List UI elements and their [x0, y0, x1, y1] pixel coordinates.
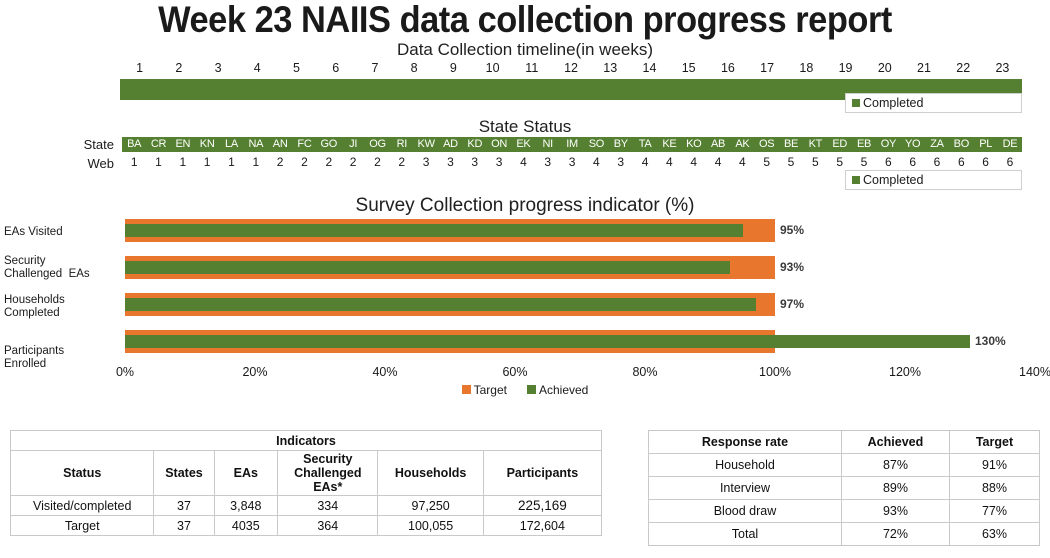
table-row: Interview 89% 88%	[649, 477, 1040, 500]
survey-bar-group: 130%	[125, 326, 1035, 363]
state-web-BA: 1	[122, 154, 146, 171]
state-web-EK: 4	[511, 154, 535, 171]
header-eas: EAs	[214, 451, 278, 496]
state-code-KD: KD	[463, 137, 487, 152]
state-code-BY: BY	[609, 137, 633, 152]
state-code-IM: IM	[560, 137, 584, 152]
state-web-SO: 4	[584, 154, 608, 171]
bar-achieved-2	[125, 298, 756, 311]
timeline-week-17: 17	[748, 60, 787, 76]
state-code-AB: AB	[706, 137, 730, 152]
state-code-OS: OS	[755, 137, 779, 152]
state-web-ON: 3	[487, 154, 511, 171]
report-page: Week 23 NAIIS data collection progress r…	[0, 0, 1050, 558]
bar-value-label-1: 93%	[780, 262, 804, 273]
cell-status: Target	[11, 516, 154, 536]
state-code-EN: EN	[171, 137, 195, 152]
header-security-line1: Security	[303, 452, 352, 466]
cell-target: 88%	[949, 477, 1039, 500]
state-code-RI: RI	[390, 137, 414, 152]
cell-achieved: 93%	[841, 500, 949, 523]
timeline-week-20: 20	[865, 60, 904, 76]
bar-achieved-3	[125, 335, 970, 348]
survey-xtick-0: 0%	[116, 365, 134, 379]
state-web-IM: 3	[560, 154, 584, 171]
timeline-week-7: 7	[355, 60, 394, 76]
state-web-YO: 6	[901, 154, 925, 171]
state-code-ON: ON	[487, 137, 511, 152]
survey-legend-label: Achieved	[539, 383, 588, 397]
state-status-chart: BACRENKNLANAANFCGOJIOGRIKWADKDONEKNIIMSO…	[122, 137, 1022, 171]
cell-status: Visited/completed	[11, 496, 154, 516]
timeline-week-8: 8	[395, 60, 434, 76]
cell-target: 91%	[949, 454, 1039, 477]
state-code-AN: AN	[268, 137, 292, 152]
state-code-EK: EK	[511, 137, 535, 152]
state-web-KO: 4	[682, 154, 706, 171]
header-security-line2: Challenged	[294, 466, 361, 480]
cell-eas: 4035	[214, 516, 278, 536]
table-row: Status States EAs Security Challenged EA…	[11, 451, 602, 496]
survey-xtick-60: 60%	[502, 365, 527, 379]
state-status-title: State Status	[0, 117, 1050, 137]
indicators-table: Indicators Status States EAs Security Ch…	[10, 430, 602, 536]
cell-households: 100,055	[378, 516, 483, 536]
header-target: Target	[949, 431, 1039, 454]
state-web-AD: 3	[438, 154, 462, 171]
state-code-GO: GO	[317, 137, 341, 152]
cell-eas: 3,848	[214, 496, 278, 516]
survey-bar-group: 93%	[125, 252, 1035, 289]
state-web-KD: 3	[463, 154, 487, 171]
timeline-legend[interactable]: Completed	[845, 93, 1022, 113]
timeline-week-14: 14	[630, 60, 669, 76]
timeline-week-19: 19	[826, 60, 865, 76]
state-code-PL: PL	[973, 137, 997, 152]
state-web-LA: 1	[219, 154, 243, 171]
timeline-week-ticks: 1234567891011121314151617181920212223	[120, 60, 1022, 76]
header-achieved: Achieved	[841, 431, 949, 454]
table-row: Household 87% 91%	[649, 454, 1040, 477]
state-code-KE: KE	[657, 137, 681, 152]
survey-xtick-20: 20%	[242, 365, 267, 379]
cell-security-eas: 334	[278, 496, 378, 516]
bar-value-label-2: 97%	[780, 299, 804, 310]
cell-response-label: Total	[649, 523, 842, 546]
cell-achieved: 72%	[841, 523, 949, 546]
survey-category-label-1: SecurityChallenged EAs	[4, 255, 114, 281]
timeline-week-5: 5	[277, 60, 316, 76]
state-code-LA: LA	[219, 137, 243, 152]
cell-security-eas: 364	[278, 516, 378, 536]
table-row: Response rate Achieved Target	[649, 431, 1040, 454]
survey-category-label-0: EAs Visited	[4, 226, 114, 239]
cell-households: 97,250	[378, 496, 483, 516]
state-web-JI: 2	[341, 154, 365, 171]
timeline-legend-label: Completed	[863, 96, 923, 110]
survey-xtick-120: 120%	[889, 365, 921, 379]
timeline-week-4: 4	[238, 60, 277, 76]
state-code-CR: CR	[146, 137, 170, 152]
state-code-KT: KT	[803, 137, 827, 152]
state-code-SO: SO	[584, 137, 608, 152]
state-web-PL: 6	[973, 154, 997, 171]
cell-states: 37	[154, 516, 214, 536]
state-code-FC: FC	[292, 137, 316, 152]
state-code-KO: KO	[682, 137, 706, 152]
survey-legend-item-achieved: Achieved	[527, 383, 588, 397]
state-code-ZA: ZA	[925, 137, 949, 152]
bar-value-label-3: 130%	[975, 336, 1006, 347]
state-web-AN: 2	[268, 154, 292, 171]
legend-swatch-target-icon	[462, 385, 471, 394]
header-participants: Participants	[483, 451, 601, 496]
timeline-week-16: 16	[708, 60, 747, 76]
cell-target: 63%	[949, 523, 1039, 546]
cell-achieved: 89%	[841, 477, 949, 500]
state-code-JI: JI	[341, 137, 365, 152]
state-web-NI: 3	[536, 154, 560, 171]
timeline-week-9: 9	[434, 60, 473, 76]
state-code-OY: OY	[876, 137, 900, 152]
state-web-AB: 4	[706, 154, 730, 171]
table-row: Total 72% 63%	[649, 523, 1040, 546]
state-web-BO: 6	[949, 154, 973, 171]
cell-states: 37	[154, 496, 214, 516]
survey-legend: TargetAchieved	[0, 383, 1050, 397]
legend-swatch-completed-icon	[852, 176, 860, 184]
web-row-label: Web	[0, 155, 114, 172]
header-status: Status	[11, 451, 154, 496]
state-web-AK: 4	[730, 154, 754, 171]
bar-achieved-1	[125, 261, 730, 274]
timeline-week-2: 2	[159, 60, 198, 76]
table-row: Blood draw 93% 77%	[649, 500, 1040, 523]
header-response-rate: Response rate	[649, 431, 842, 454]
survey-legend-label: Target	[474, 383, 507, 397]
timeline-week-23: 23	[983, 60, 1022, 76]
timeline-week-22: 22	[944, 60, 983, 76]
state-code-EB: EB	[852, 137, 876, 152]
state-web-FC: 2	[292, 154, 316, 171]
cell-achieved: 87%	[841, 454, 949, 477]
timeline-week-18: 18	[787, 60, 826, 76]
state-code-NA: NA	[244, 137, 268, 152]
cell-response-label: Blood draw	[649, 500, 842, 523]
state-code-BA: BA	[122, 137, 146, 152]
indicators-caption: Indicators	[11, 431, 602, 451]
timeline-week-21: 21	[904, 60, 943, 76]
timeline-chart-title: Data Collection timeline(in weeks)	[0, 40, 1050, 60]
survey-bar-group: 95%	[125, 215, 1035, 252]
survey-plot-area: 95%93%97%130%	[125, 215, 1035, 363]
state-web-KN: 1	[195, 154, 219, 171]
cell-target: 77%	[949, 500, 1039, 523]
state-web-EN: 1	[171, 154, 195, 171]
state-code-BE: BE	[779, 137, 803, 152]
table-row: Target 37 4035 364 100,055 172,604	[11, 516, 602, 536]
bar-achieved-0	[125, 224, 743, 237]
response-rate-table: Response rate Achieved Target Household …	[648, 430, 1040, 546]
state-code-TA: TA	[633, 137, 657, 152]
survey-category-label-2: HouseholdsCompleted	[4, 294, 114, 320]
survey-xtick-40: 40%	[372, 365, 397, 379]
state-code-DE: DE	[998, 137, 1022, 152]
header-security-line3: EAs*	[313, 480, 342, 494]
cell-response-label: Household	[649, 454, 842, 477]
header-households: Households	[378, 451, 483, 496]
survey-xtick-140: 140%	[1019, 365, 1050, 379]
state-web-OG: 2	[365, 154, 389, 171]
state-code-BO: BO	[949, 137, 973, 152]
state-web-ED: 5	[828, 154, 852, 171]
header-states: States	[154, 451, 214, 496]
state-web-row: 1111112222223333433434444455555666666	[122, 154, 1022, 171]
state-web-ZA: 6	[925, 154, 949, 171]
state-web-KW: 3	[414, 154, 438, 171]
state-code-AK: AK	[730, 137, 754, 152]
survey-chart-title: Survey Collection progress indicator (%)	[0, 195, 1050, 217]
survey-x-axis: 0%20%40%60%80%100%120%140%	[125, 365, 1035, 383]
state-web-BE: 5	[779, 154, 803, 171]
state-web-NA: 1	[244, 154, 268, 171]
state-web-GO: 2	[317, 154, 341, 171]
state-code-YO: YO	[901, 137, 925, 152]
state-web-CR: 1	[146, 154, 170, 171]
state-web-TA: 4	[633, 154, 657, 171]
table-row: Indicators	[11, 431, 602, 451]
page-title: Week 23 NAIIS data collection progress r…	[37, 0, 1014, 42]
timeline-week-11: 11	[512, 60, 551, 76]
survey-progress-chart: EAs VisitedSecurityChallenged EAsHouseho…	[0, 215, 1050, 395]
state-web-BY: 3	[609, 154, 633, 171]
timeline-week-12: 12	[551, 60, 590, 76]
state-code-AD: AD	[438, 137, 462, 152]
state-web-EB: 5	[852, 154, 876, 171]
survey-legend-item-target: Target	[462, 383, 507, 397]
state-code-NI: NI	[536, 137, 560, 152]
survey-xtick-80: 80%	[632, 365, 657, 379]
state-web-KE: 4	[657, 154, 681, 171]
legend-swatch-completed-icon	[852, 99, 860, 107]
state-row-label: State	[0, 137, 114, 152]
bar-value-label-0: 95%	[780, 225, 804, 236]
timeline-week-10: 10	[473, 60, 512, 76]
cell-response-label: Interview	[649, 477, 842, 500]
state-status-legend[interactable]: Completed	[845, 170, 1022, 190]
timeline-week-13: 13	[591, 60, 630, 76]
survey-bar-group: 97%	[125, 289, 1035, 326]
state-code-KN: KN	[195, 137, 219, 152]
state-code-ED: ED	[828, 137, 852, 152]
state-code-row: BACRENKNLANAANFCGOJIOGRIKWADKDONEKNIIMSO…	[122, 137, 1022, 152]
state-web-RI: 2	[390, 154, 414, 171]
state-web-OS: 5	[755, 154, 779, 171]
cell-participants: 225,169	[483, 496, 601, 516]
timeline-week-6: 6	[316, 60, 355, 76]
survey-xtick-100: 100%	[759, 365, 791, 379]
survey-category-label-3: ParticipantsEnrolled	[4, 345, 114, 371]
timeline-week-3: 3	[198, 60, 237, 76]
state-web-DE: 6	[998, 154, 1022, 171]
state-web-OY: 6	[876, 154, 900, 171]
table-row: Visited/completed 37 3,848 334 97,250 22…	[11, 496, 602, 516]
survey-category-labels: EAs VisitedSecurityChallenged EAsHouseho…	[0, 215, 118, 363]
state-code-KW: KW	[414, 137, 438, 152]
timeline-week-1: 1	[120, 60, 159, 76]
state-web-KT: 5	[803, 154, 827, 171]
cell-participants: 172,604	[483, 516, 601, 536]
legend-swatch-achieved-icon	[527, 385, 536, 394]
header-security-challenged-eas: Security Challenged EAs*	[278, 451, 378, 496]
state-legend-label: Completed	[863, 173, 923, 187]
timeline-week-15: 15	[669, 60, 708, 76]
state-code-OG: OG	[365, 137, 389, 152]
